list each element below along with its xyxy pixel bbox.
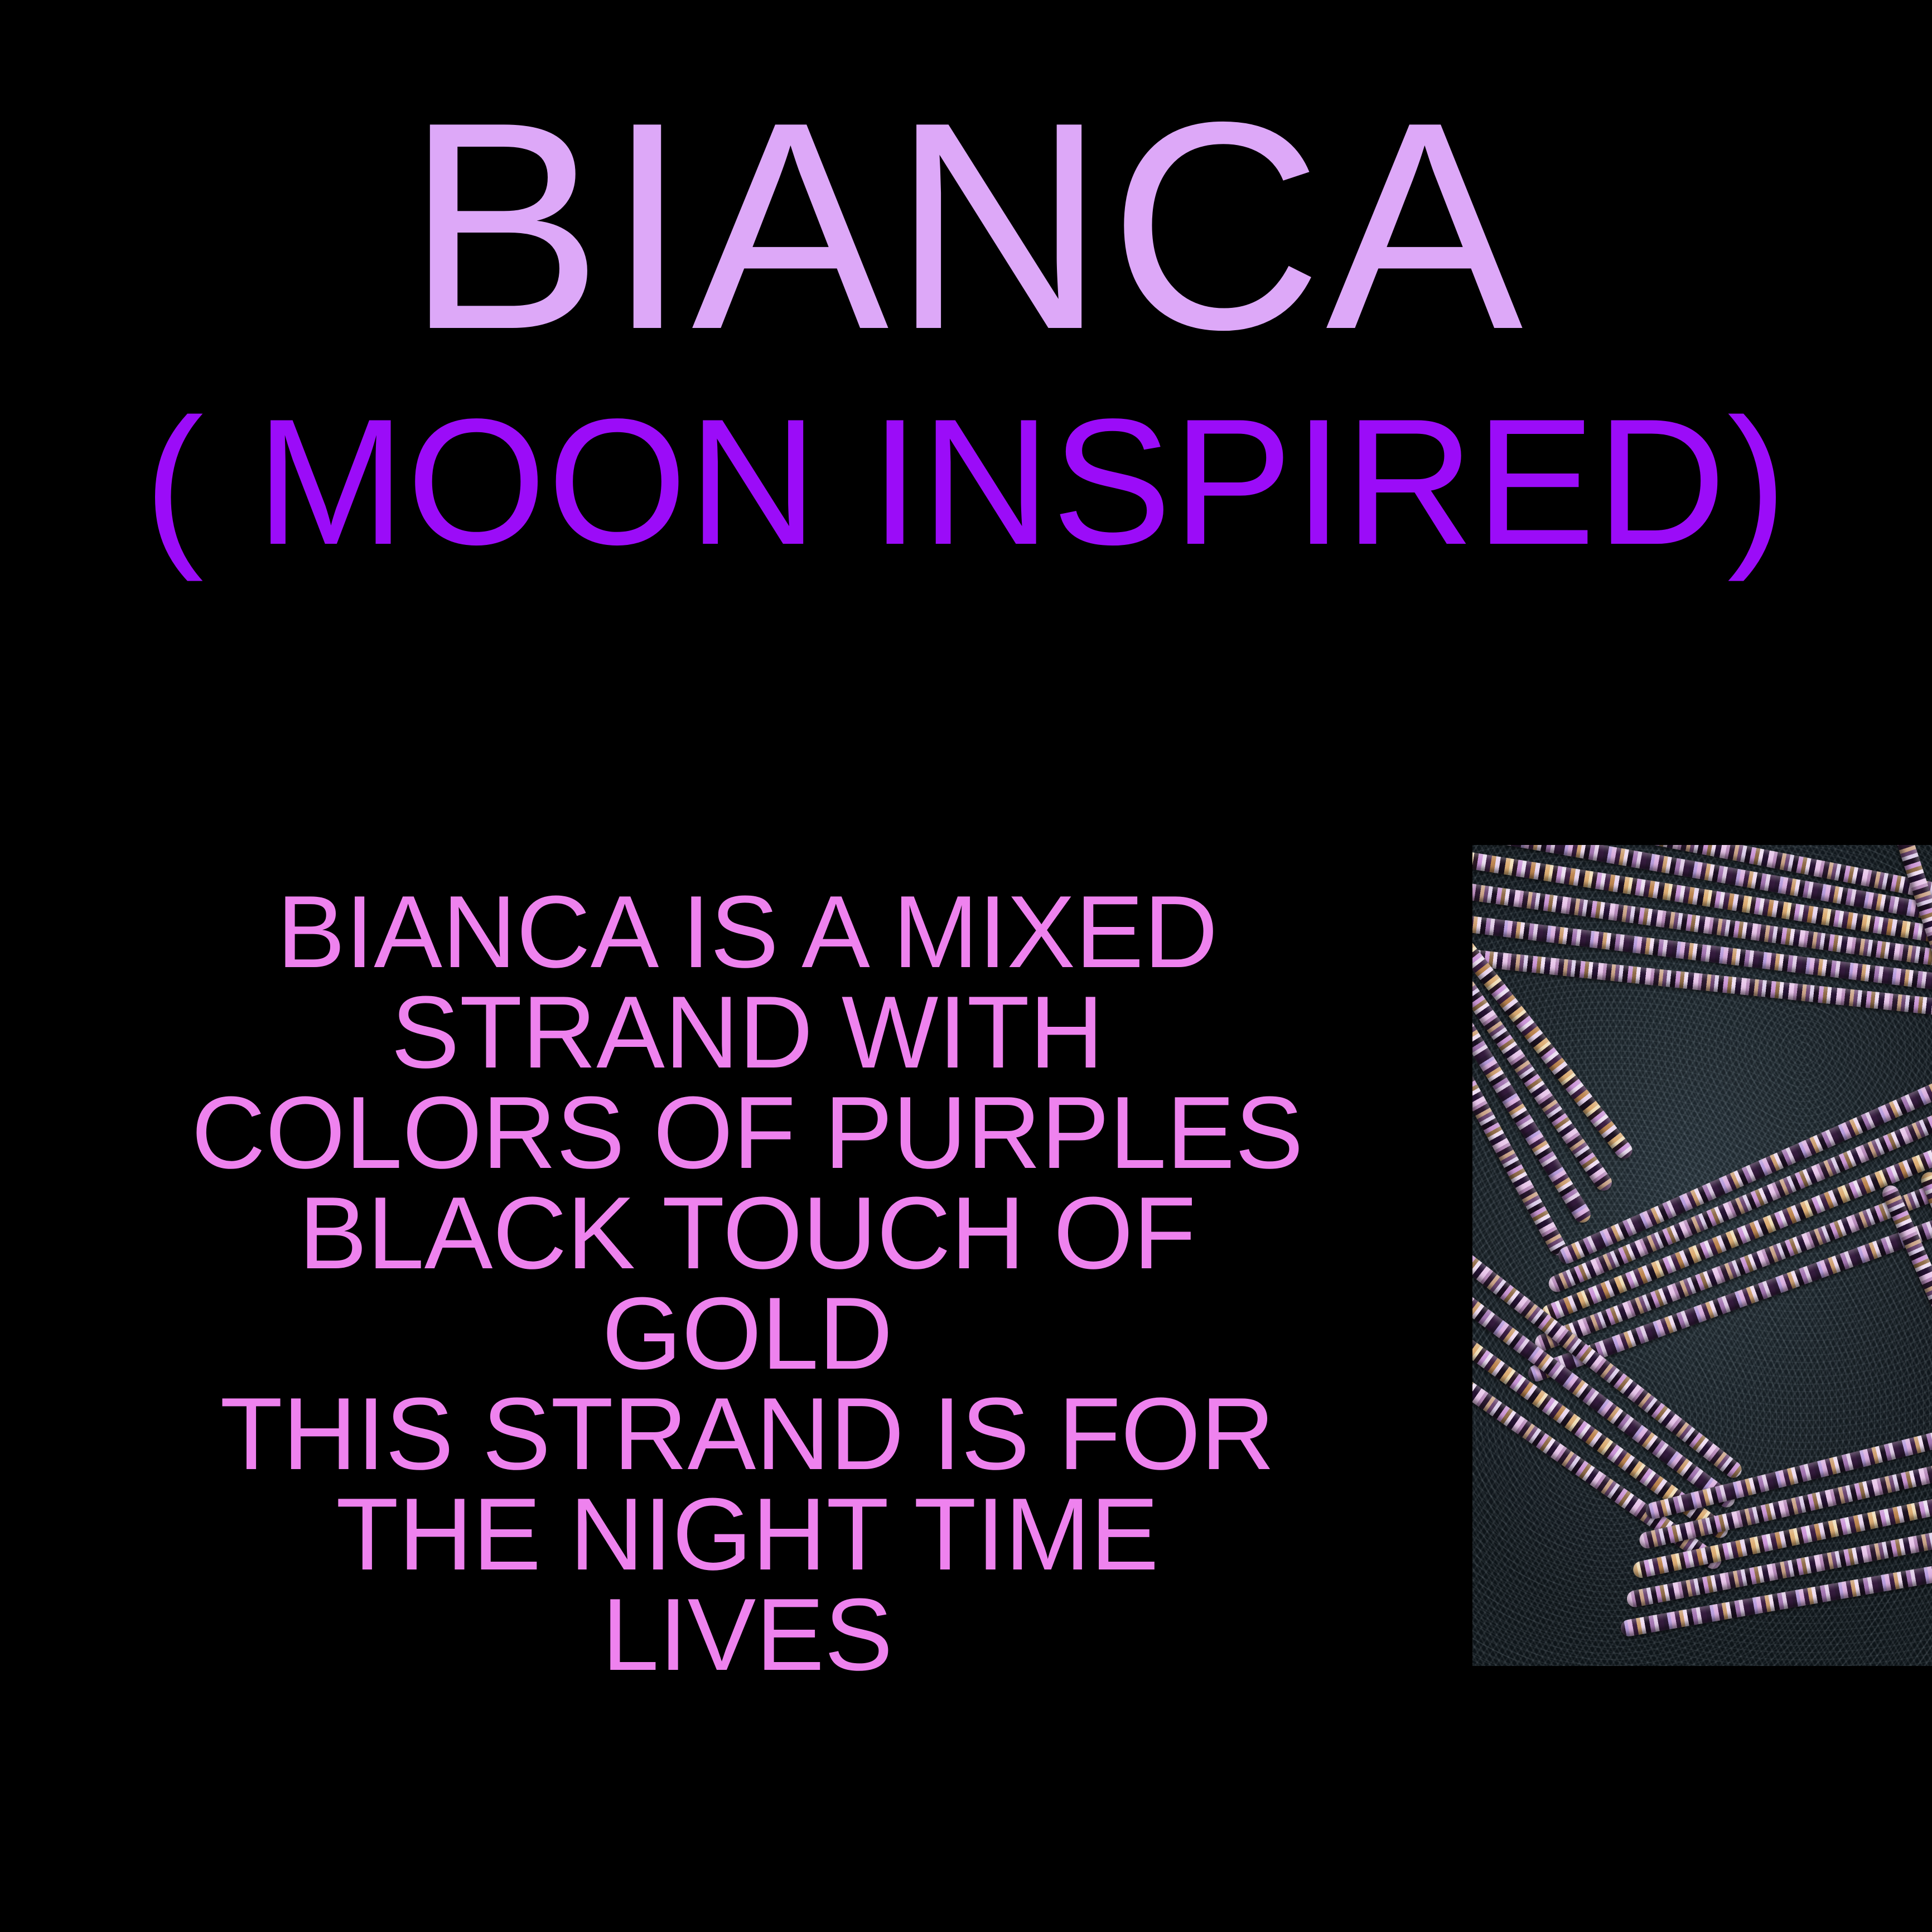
description-line-4: BLACK TOUCH OF	[167, 1182, 1327, 1283]
description-line-7: THE NIGHT TIME	[167, 1484, 1327, 1584]
description-line-6: THIS STRAND IS FOR	[167, 1383, 1327, 1484]
description-line-8: LIVES	[167, 1584, 1327, 1684]
description-line-3: COLORS OF PURPLES	[167, 1082, 1327, 1182]
description-line-5: GOLD	[167, 1283, 1327, 1383]
description-line-2: STRAND WITH	[167, 982, 1327, 1082]
page-title: BIANCA	[0, 78, 1932, 374]
page-subtitle: ( MOON INSPIRED)	[0, 393, 1932, 572]
description-line-1: BIANCA IS A MIXED	[167, 881, 1327, 982]
product-photo	[1472, 845, 1932, 1666]
title-block: BIANCA ( MOON INSPIRED)	[0, 78, 1932, 572]
listing-image-canvas: BIANCA ( MOON INSPIRED) BIANCA IS A MIXE…	[0, 0, 1932, 1932]
product-description: BIANCA IS A MIXED STRAND WITH COLORS OF …	[167, 881, 1327, 1684]
